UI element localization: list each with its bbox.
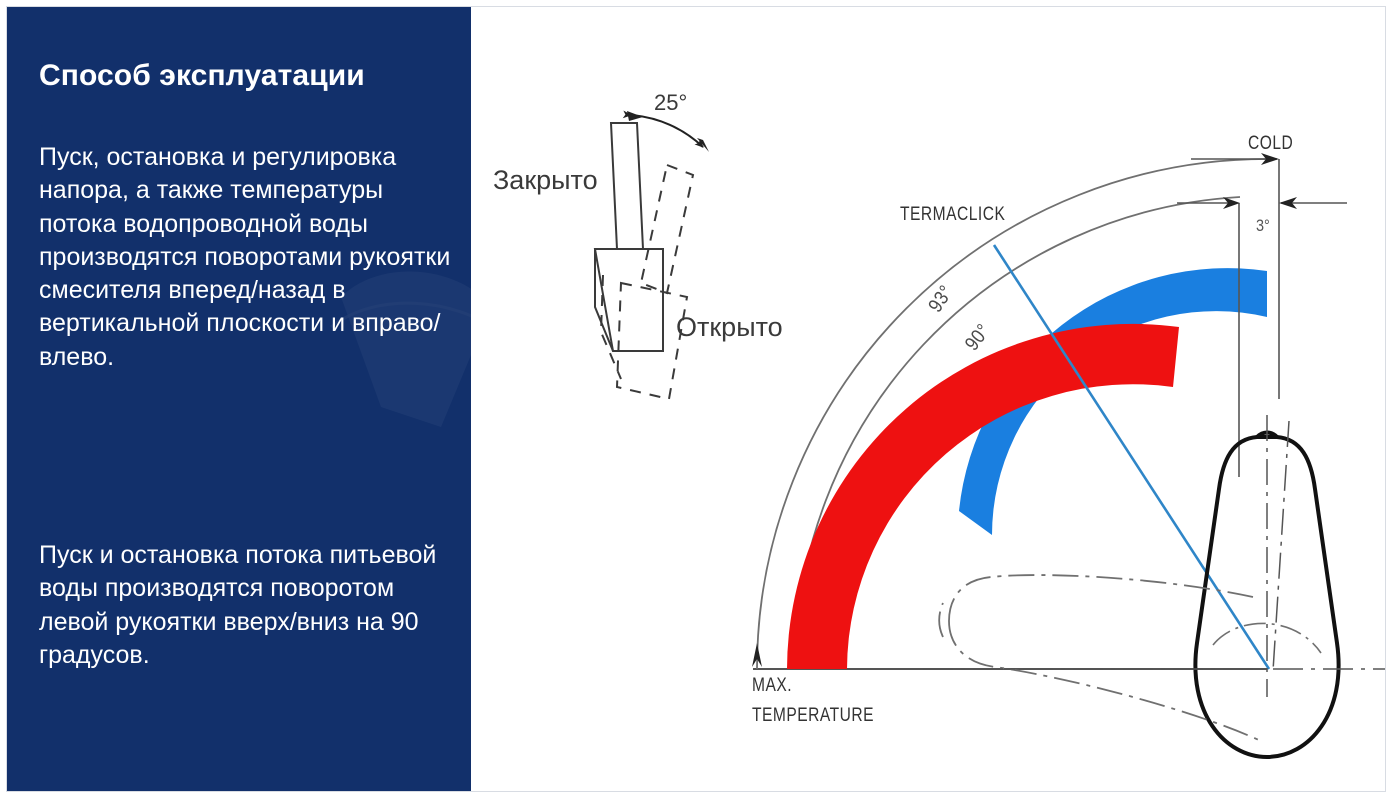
slide-frame: Способ эксплуатации Пуск, остановка и ре… xyxy=(6,6,1386,792)
technical-drawing-area: 25° Закрыто Открыто TERMACLICK COLD 93° … xyxy=(471,7,1386,792)
termaclick-label: TERMACLICK xyxy=(900,204,1005,226)
max-temperature-label-line1: MAX. xyxy=(752,675,792,697)
max-temperature-label-line2: TEMPERATURE xyxy=(752,705,874,727)
angle-25-label: 25° xyxy=(654,90,687,116)
handle-open-label: Открыто xyxy=(676,312,783,343)
slide-root: Способ эксплуатации Пуск, остановка и ре… xyxy=(0,0,1394,800)
arc-90 xyxy=(795,197,1240,669)
angle-3-label: 3° xyxy=(1256,216,1270,236)
instruction-paragraph-1: Пуск, остановка и регулировка напора, а … xyxy=(39,141,457,374)
handle-closed-shape xyxy=(595,123,663,351)
instruction-panel: Способ эксплуатации Пуск, остановка и ре… xyxy=(7,7,471,792)
page-title: Способ эксплуатации xyxy=(39,59,439,92)
technical-drawing-svg xyxy=(471,7,1386,792)
faucet-center-lines xyxy=(1267,415,1289,697)
angle-25-arc xyxy=(631,115,703,147)
angle-3-dimension xyxy=(1177,197,1347,209)
angle-25-arrowheads xyxy=(627,111,709,152)
cold-label: COLD xyxy=(1248,133,1293,155)
instruction-paragraph-2: Пуск и остановка потока питьевой воды пр… xyxy=(39,539,457,672)
faucet-body-phantom xyxy=(939,575,1261,741)
handle-closed-label: Закрыто xyxy=(493,165,598,196)
